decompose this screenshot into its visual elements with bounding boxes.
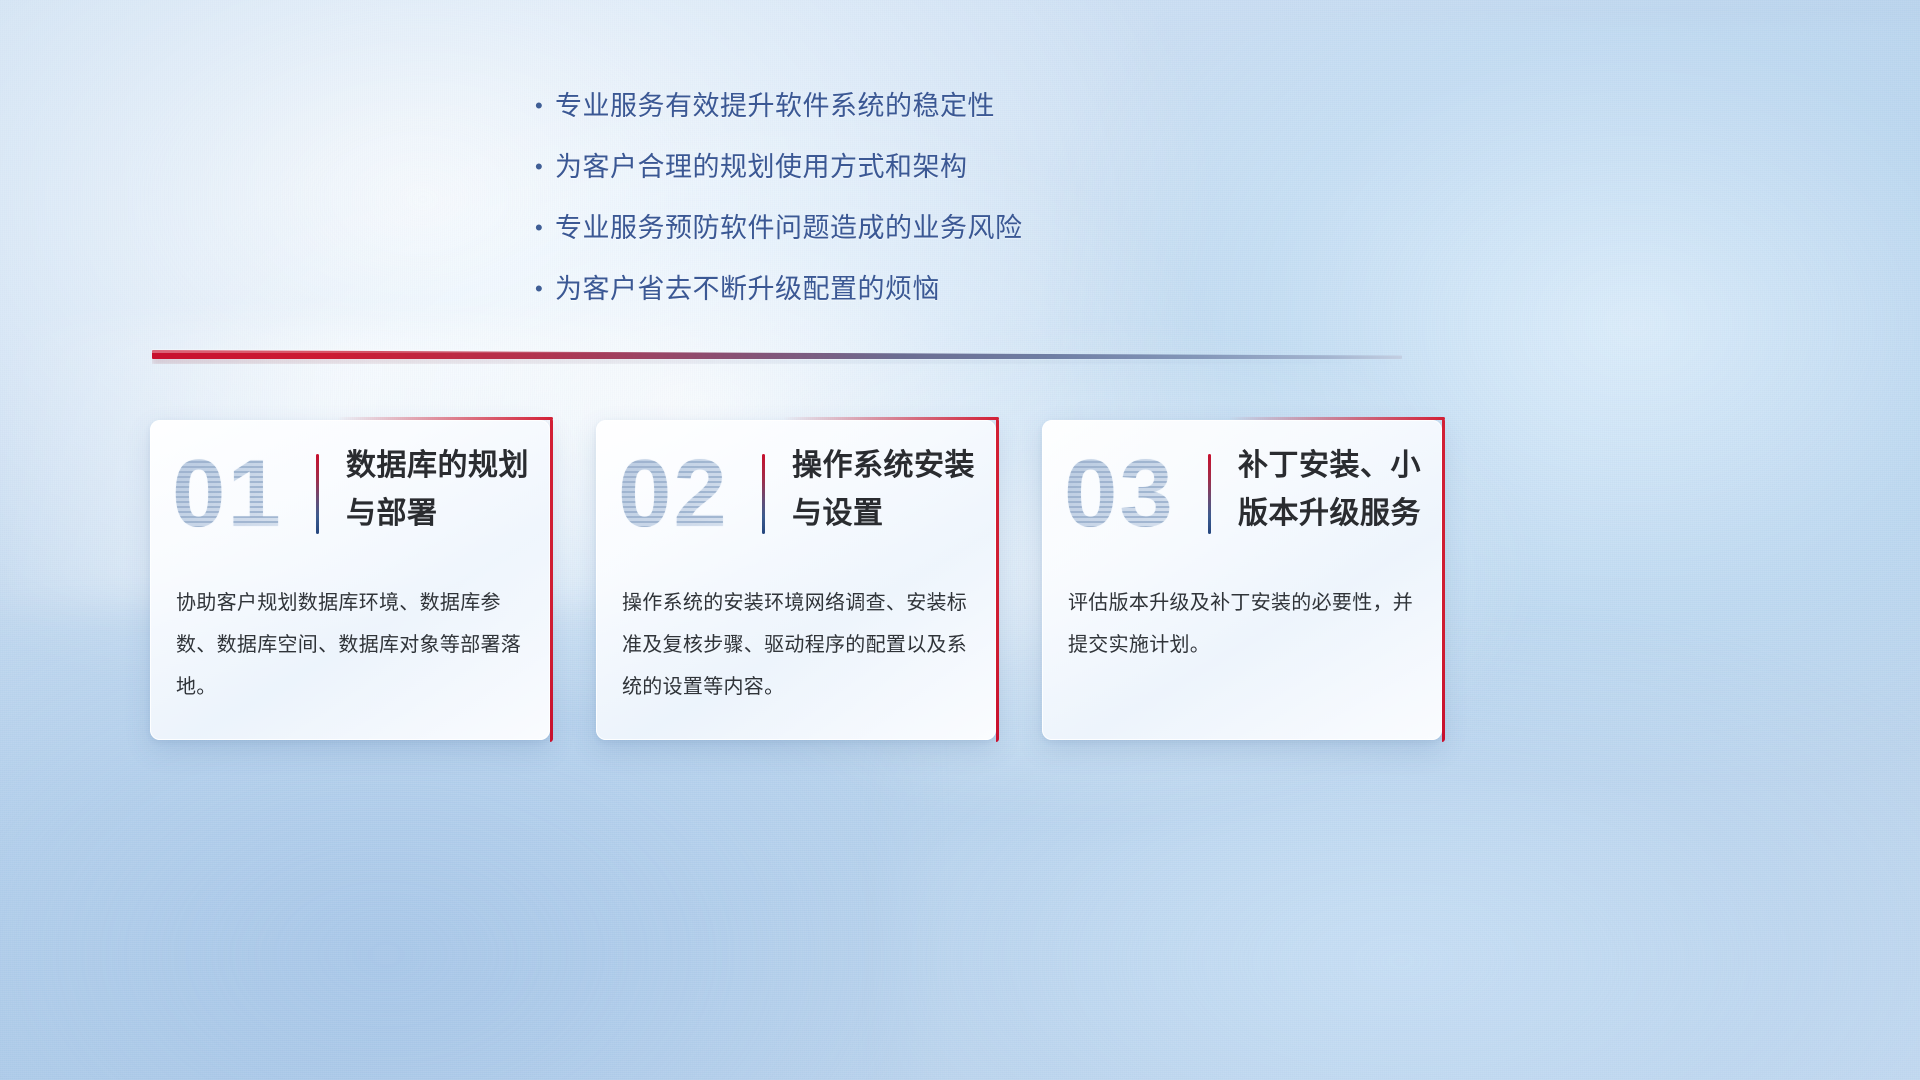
card-number-ghost: 01 [172, 436, 302, 552]
card-number-ghost: 02 [618, 436, 748, 552]
card-header: 03 03 补丁安装、小版本升级服务 [1042, 420, 1442, 568]
service-card-3[interactable]: 03 03 补丁安装、小版本升级服务 评估版本升级及补丁安装的必要性，并提交实施… [1042, 420, 1442, 740]
card-description: 操作系统的安装环境网络调查、安装标准及复核步骤、驱动程序的配置以及系统的设置等内… [622, 582, 972, 708]
service-card-2[interactable]: 02 02 操作系统安装与设置 操作系统的安装环境网络调查、安装标准及复核步骤、… [596, 420, 996, 740]
card-title-divider [1208, 454, 1211, 534]
card-accent-bar [996, 418, 999, 742]
card-title-divider [316, 454, 319, 534]
bullet-dot-icon: • [535, 147, 555, 187]
bullet-item-2: • 为客户合理的规划使用方式和架构 [535, 147, 1175, 187]
bullet-list: • 专业服务有效提升软件系统的稳定性 • 为客户合理的规划使用方式和架构 • 专… [535, 86, 1175, 330]
bullet-text: 专业服务有效提升软件系统的稳定性 [555, 86, 995, 126]
service-card-1[interactable]: 01 01 数据库的规划与部署 协助客户规划数据库环境、数据库参数、数据库空间、… [150, 420, 550, 740]
bullet-item-3: • 专业服务预防软件问题造成的业务风险 [535, 208, 1175, 248]
bullet-item-4: • 为客户省去不断升级配置的烦恼 [535, 269, 1175, 309]
card-title: 数据库的规划与部署 [346, 442, 542, 538]
card-title: 操作系统安装与设置 [792, 442, 988, 538]
card-accent-bar [1442, 418, 1445, 742]
bullet-text: 为客户省去不断升级配置的烦恼 [555, 269, 940, 309]
bullet-text: 为客户合理的规划使用方式和架构 [555, 147, 968, 187]
card-header: 02 02 操作系统安装与设置 [596, 420, 996, 568]
card-description: 协助客户规划数据库环境、数据库参数、数据库空间、数据库对象等部署落地。 [176, 582, 526, 708]
bullet-dot-icon: • [535, 208, 555, 248]
card-description: 评估版本升级及补丁安装的必要性，并提交实施计划。 [1068, 582, 1418, 666]
card-group: 01 01 数据库的规划与部署 协助客户规划数据库环境、数据库参数、数据库空间、… [150, 420, 1442, 740]
bullet-dot-icon: • [535, 86, 555, 126]
bullet-item-1: • 专业服务有效提升软件系统的稳定性 [535, 86, 1175, 126]
bullet-text: 专业服务预防软件问题造成的业务风险 [555, 208, 1023, 248]
card-title: 补丁安装、小版本升级服务 [1238, 442, 1434, 538]
card-accent-bar [550, 418, 553, 742]
divider-sheen [152, 349, 1402, 353]
card-header: 01 01 数据库的规划与部署 [150, 420, 550, 568]
card-title-divider [762, 454, 765, 534]
section-divider [152, 346, 1402, 366]
card-number-ghost: 03 [1064, 436, 1194, 552]
bullet-dot-icon: • [535, 269, 555, 309]
slide-canvas: • 专业服务有效提升软件系统的稳定性 • 为客户合理的规划使用方式和架构 • 专… [0, 0, 1920, 1080]
